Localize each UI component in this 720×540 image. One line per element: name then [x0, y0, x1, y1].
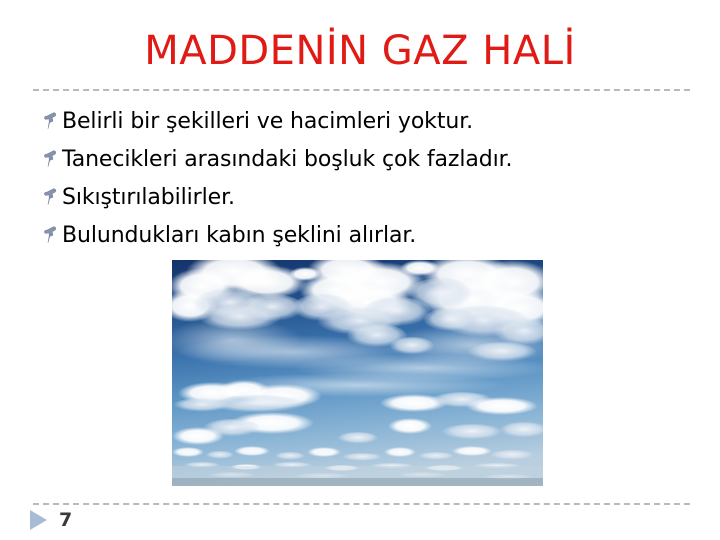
page-number: 7: [59, 510, 72, 530]
title-divider: [33, 89, 690, 91]
pushpin-icon: [40, 223, 62, 247]
list-item: Sıkıştırılabilirler.: [40, 179, 700, 217]
pushpin-icon: [40, 185, 62, 209]
play-triangle-icon: [30, 510, 47, 530]
page-title: MADDENİN GAZ HALİ: [0, 28, 720, 74]
cloud-sky-photo: [172, 260, 543, 486]
list-item-label: Tanecikleri arasındaki boşluk çok fazlad…: [62, 145, 512, 175]
list-item: Bulundukları kabın şeklini alırlar.: [40, 217, 700, 255]
list-item-label: Sıkıştırılabilirler.: [62, 183, 235, 213]
bullet-list: Belirli bir şekilleri ve hacimleri yoktu…: [40, 103, 700, 255]
pushpin-icon: [40, 109, 62, 133]
list-item-label: Belirli bir şekilleri ve hacimleri yoktu…: [62, 107, 473, 137]
slide-canvas: MADDENİN GAZ HALİ Belirli bir şekilleri …: [0, 0, 720, 540]
list-item-label: Bulundukları kabın şeklini alırlar.: [62, 221, 416, 251]
list-item: Tanecikleri arasındaki boşluk çok fazlad…: [40, 141, 700, 179]
list-item: Belirli bir şekilleri ve hacimleri yoktu…: [40, 103, 700, 141]
slide-footer: 7: [30, 508, 72, 532]
pushpin-icon: [40, 147, 62, 171]
footer-divider: [33, 503, 690, 505]
